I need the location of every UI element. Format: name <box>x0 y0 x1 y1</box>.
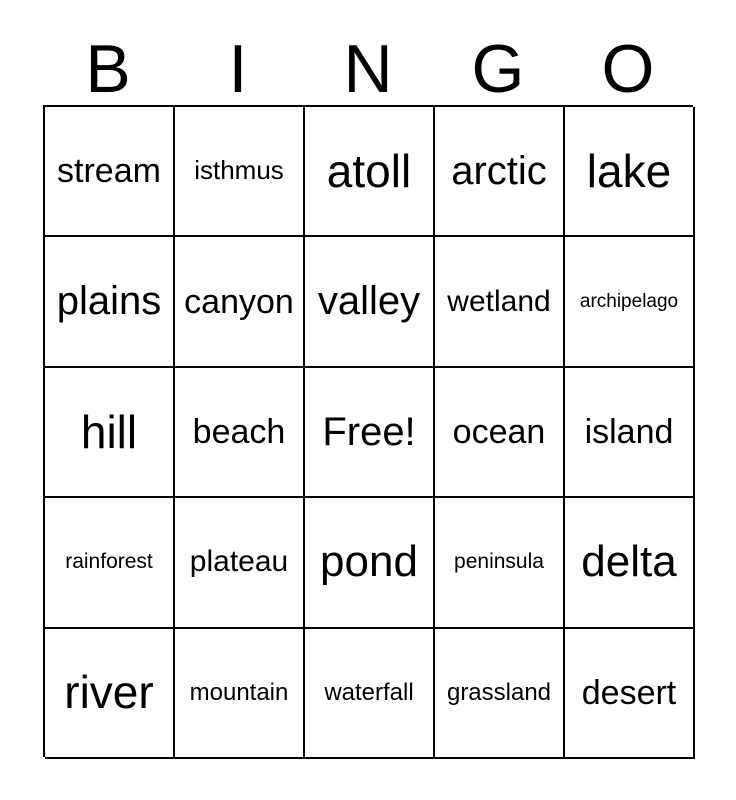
bingo-row: rainforestplateaupondpeninsuladelta <box>45 498 693 628</box>
bingo-cell-label: peninsula <box>435 551 563 573</box>
bingo-cell[interactable]: archipelago <box>565 237 695 367</box>
bingo-cell[interactable]: island <box>565 368 695 498</box>
bingo-cell-label: isthmus <box>175 157 303 185</box>
bingo-cell-label: plains <box>45 280 173 322</box>
bingo-cell[interactable]: pond <box>305 498 435 628</box>
bingo-cell-label: grassland <box>435 680 563 705</box>
bingo-row: hillbeachFree!oceanisland <box>45 368 693 498</box>
bingo-cell-label: stream <box>45 153 173 189</box>
bingo-cell[interactable]: stream <box>45 107 175 237</box>
bingo-cell-free-space[interactable]: Free! <box>305 368 435 498</box>
bingo-cell[interactable]: plains <box>45 237 175 367</box>
bingo-cell-label: wetland <box>435 286 563 318</box>
bingo-cell[interactable]: rainforest <box>45 498 175 628</box>
bingo-cell-label: pond <box>305 539 433 586</box>
bingo-cell-label: mountain <box>175 680 303 705</box>
header-letter-n: N <box>303 33 433 105</box>
bingo-cell[interactable]: waterfall <box>305 629 435 759</box>
bingo-cell-label: delta <box>565 539 693 586</box>
bingo-cell-label: archipelago <box>565 292 693 312</box>
bingo-header: B I N G O <box>43 26 693 105</box>
bingo-cell-label: beach <box>175 414 303 450</box>
bingo-cell[interactable]: hill <box>45 368 175 498</box>
bingo-cell-label: hill <box>45 408 173 457</box>
bingo-card: B I N G O streamisthmusatollarcticlakepl… <box>0 0 736 800</box>
bingo-cell-label: valley <box>305 280 433 322</box>
bingo-cell-label: waterfall <box>305 680 433 705</box>
header-letter-g: G <box>433 33 563 105</box>
bingo-cell-label: Free! <box>305 411 433 453</box>
header-letter-o: O <box>563 33 693 105</box>
bingo-cell[interactable]: atoll <box>305 107 435 237</box>
bingo-cell[interactable]: delta <box>565 498 695 628</box>
bingo-cell-label: arctic <box>435 150 563 192</box>
bingo-cell[interactable]: canyon <box>175 237 305 367</box>
bingo-cell-label: plateau <box>175 546 303 578</box>
bingo-row: plainscanyonvalleywetlandarchipelago <box>45 237 693 367</box>
bingo-cell[interactable]: lake <box>565 107 695 237</box>
bingo-cell-label: lake <box>565 147 693 196</box>
header-letter-i: I <box>173 33 303 105</box>
bingo-cell[interactable]: plateau <box>175 498 305 628</box>
bingo-cell-label: island <box>565 414 693 450</box>
bingo-cell-label: atoll <box>305 147 433 196</box>
bingo-cell[interactable]: peninsula <box>435 498 565 628</box>
bingo-cell[interactable]: arctic <box>435 107 565 237</box>
bingo-cell[interactable]: beach <box>175 368 305 498</box>
bingo-cell-label: rainforest <box>45 551 173 573</box>
bingo-cell[interactable]: desert <box>565 629 695 759</box>
bingo-cell[interactable]: river <box>45 629 175 759</box>
bingo-cell[interactable]: valley <box>305 237 435 367</box>
bingo-grid: streamisthmusatollarcticlakeplainscanyon… <box>43 105 693 757</box>
bingo-cell-label: canyon <box>175 284 303 320</box>
bingo-cell[interactable]: mountain <box>175 629 305 759</box>
bingo-row: rivermountainwaterfallgrasslanddesert <box>45 629 693 759</box>
bingo-cell-label: desert <box>565 675 693 711</box>
header-letter-b: B <box>43 33 173 105</box>
bingo-cell[interactable]: ocean <box>435 368 565 498</box>
bingo-cell[interactable]: isthmus <box>175 107 305 237</box>
bingo-cell-label: ocean <box>435 414 563 450</box>
bingo-cell[interactable]: grassland <box>435 629 565 759</box>
bingo-cell[interactable]: wetland <box>435 237 565 367</box>
bingo-cell-label: river <box>45 668 173 717</box>
bingo-row: streamisthmusatollarcticlake <box>45 107 693 237</box>
